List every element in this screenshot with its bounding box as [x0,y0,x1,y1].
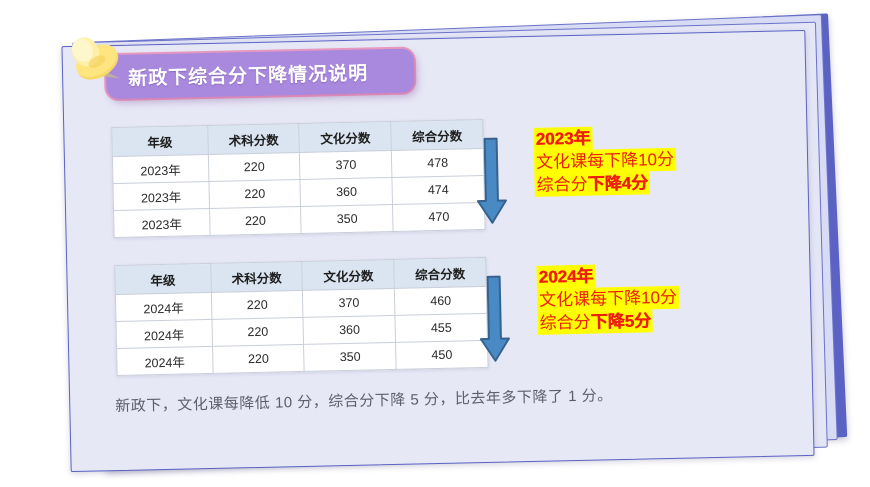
cell-grade: 2024年 [117,346,213,375]
cell-total-score: 460 [395,286,487,315]
cell-grade: 2024年 [115,292,211,321]
table-2024: 年级 术科分数 文化分数 综合分数 2024年 220 370 460 2024… [114,257,488,376]
cell-art-score: 220 [208,152,300,181]
column-header-art-score: 术科分数 [207,123,299,154]
note-2024-year: 2024年 [536,265,595,289]
cell-art-score: 220 [212,317,304,346]
note-2023-year: 2023年 [533,127,592,151]
cell-grade: 2023年 [113,181,209,210]
column-header-total-score: 综合分数 [391,119,483,150]
note-2024-total-drop-value: 下降5分 [590,311,651,331]
cell-culture-score: 360 [303,315,395,344]
cell-culture-score: 370 [303,288,395,317]
column-header-grade: 年级 [112,125,208,156]
cell-culture-score: 370 [300,150,392,179]
note-2023-total-drop: 综合分下降4分 [534,171,650,197]
column-header-total-score: 综合分数 [394,257,486,288]
cell-art-score: 220 [209,179,301,208]
cell-total-score: 450 [396,340,488,369]
note-2023-total-drop-value: 下降4分 [587,173,648,193]
pushpin-icon [57,23,137,97]
column-header-grade: 年级 [115,263,211,294]
note-2024-culture-drop: 文化课每下降10分 [537,286,679,312]
title-banner: 新政下综合分下降情况说明 [106,48,415,99]
note-2024-total-drop-prefix: 综合分 [539,313,590,333]
arrow-down-icon [477,272,513,365]
cell-total-score: 474 [392,175,484,204]
table-2023: 年级 术科分数 文化分数 综合分数 2023年 220 370 478 2023… [111,119,485,238]
column-header-art-score: 术科分数 [210,261,302,292]
note-2023-culture-drop: 文化课每下降10分 [534,148,676,174]
note-2024: 2024年 文化课每下降10分 综合分下降5分 [536,263,679,335]
page-title: 新政下综合分下降情况说明 [128,58,369,90]
slide-content: 新政下综合分下降情况说明 年级 术科分数 [61,30,812,470]
cell-art-score: 220 [212,344,304,373]
cell-total-score: 478 [392,148,484,177]
note-2024-total-drop: 综合分下降5分 [537,309,653,335]
note-2023: 2023年 文化课每下降10分 综合分下降4分 [533,125,676,197]
cell-culture-score: 350 [301,204,393,233]
column-header-culture-score: 文化分数 [302,259,394,290]
summary-text: 新政下，文化课每降低 10 分，综合分下降 5 分，比去年多下降了 1 分。 [115,381,775,416]
slide-canvas: 新政下综合分下降情况说明 年级 术科分数 [0,0,870,487]
cell-grade: 2023年 [114,208,210,237]
column-header-culture-score: 文化分数 [299,121,391,152]
cell-culture-score: 350 [304,342,396,371]
cell-grade: 2024年 [116,319,212,348]
note-2023-total-drop-prefix: 综合分 [536,175,587,195]
cell-grade: 2023年 [112,154,208,183]
cell-total-score: 470 [393,202,485,231]
arrow-down-icon [474,134,510,227]
cell-culture-score: 360 [300,177,392,206]
cell-art-score: 220 [209,206,301,235]
cell-total-score: 455 [395,313,487,342]
cell-art-score: 220 [211,290,303,319]
